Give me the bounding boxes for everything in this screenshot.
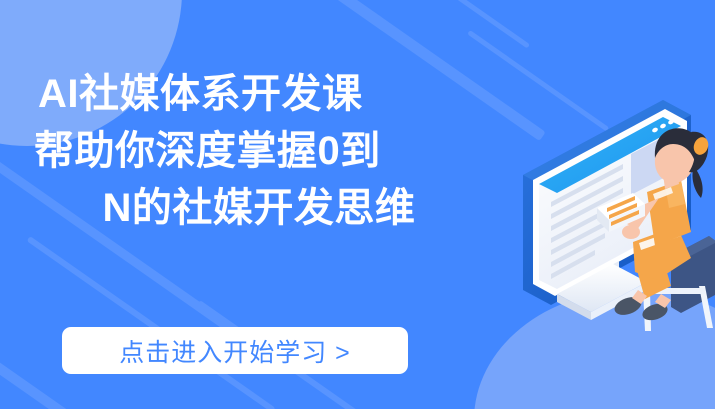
course-promo-banner: AI社媒体系开发课 帮助你深度掌握0到 N的社媒开发思维 点击进入开始学习 > [0,0,715,409]
headline-block: AI社媒体系开发课 帮助你深度掌握0到 N的社媒开发思维 [34,66,524,237]
headline-line-1: AI社媒体系开发课 [34,66,524,123]
headline-line-2: 帮助你深度掌握0到 [34,123,524,180]
headline-line-3: N的社媒开发思维 [34,180,524,237]
start-learning-button-label: 点击进入开始学习 > [119,333,351,369]
person-hand [622,225,640,239]
illustration-person-at-computer [495,80,715,335]
decorative-stripe [27,236,276,409]
start-learning-button[interactable]: 点击进入开始学习 > [62,327,408,374]
